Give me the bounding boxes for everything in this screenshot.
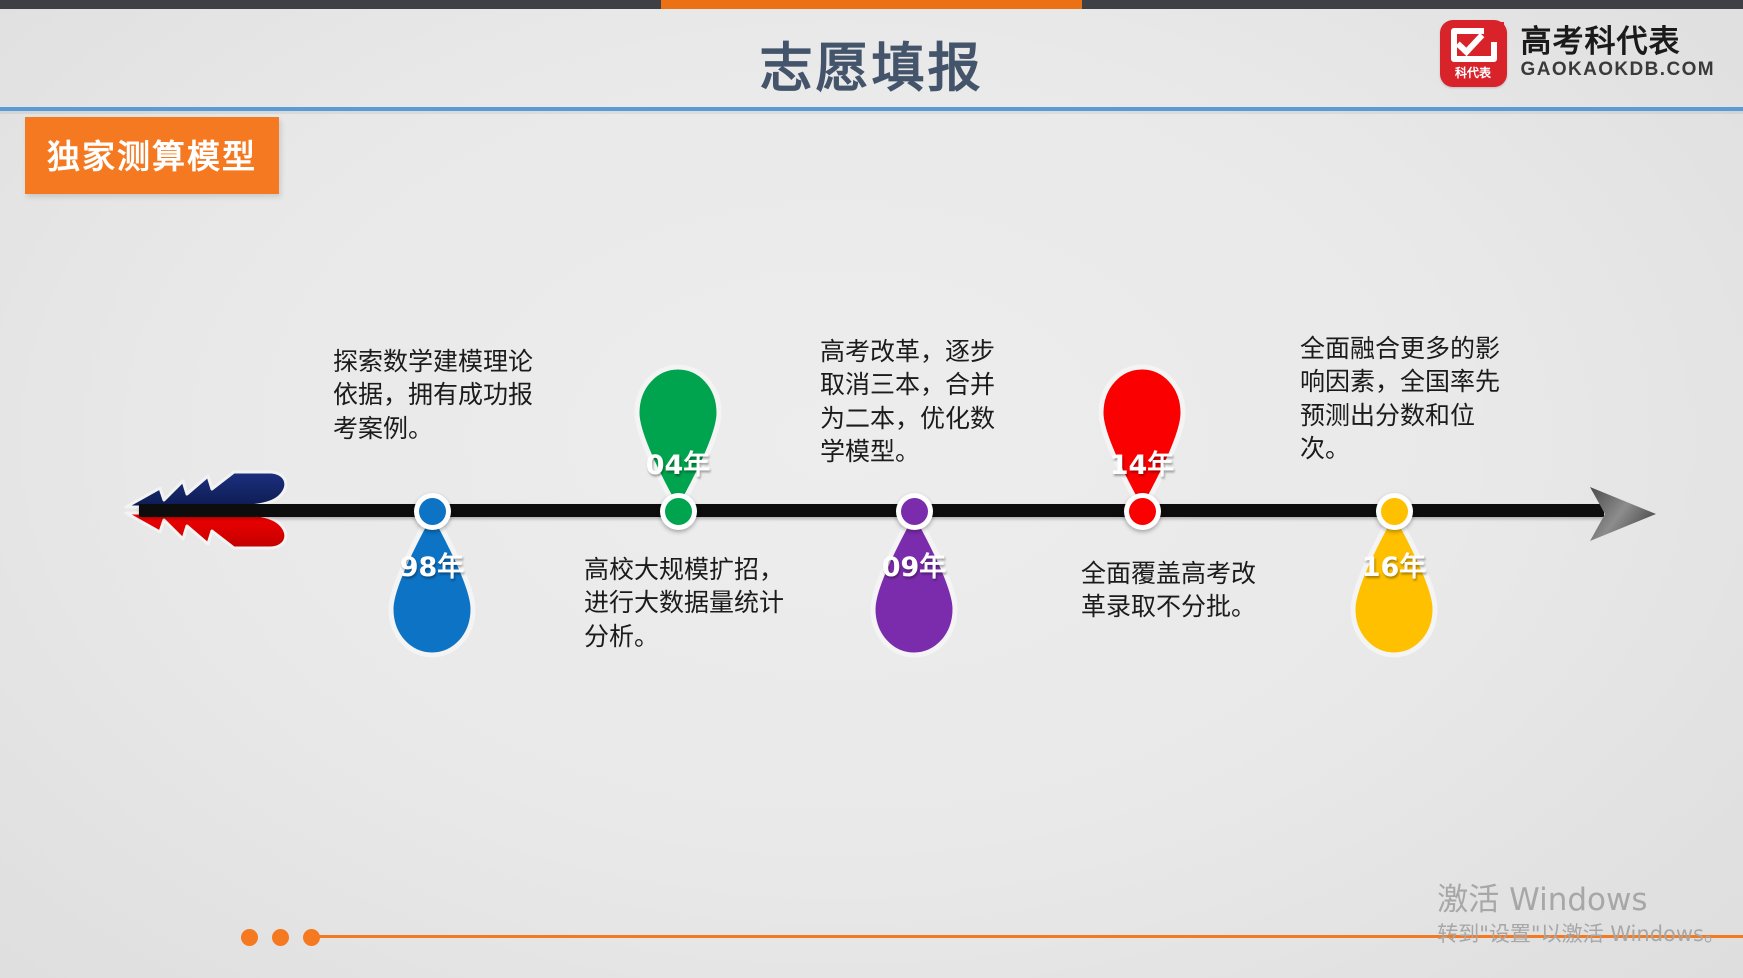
timeline-node-98年[interactable] <box>414 493 451 530</box>
header-top-accent-bar <box>661 0 1082 9</box>
timeline-node-04年[interactable] <box>660 493 697 530</box>
logo-mark-label: 科代表 <box>1440 64 1507 81</box>
section-badge: 独家测算模型 <box>25 117 279 194</box>
logo-mark-icon: 科代表 <box>1440 20 1507 87</box>
logo-text-block: 高考科代表 GAOKAOKDB.COM <box>1521 26 1715 82</box>
footer-dot-2 <box>272 929 289 946</box>
timeline-caption-98年: 探索数学建模理论依据，拥有成功报考案例。 <box>333 345 533 445</box>
node-dot-icon <box>1129 498 1156 525</box>
node-dot-icon <box>901 498 928 525</box>
logo-brand-en: GAOKAOKDB.COM <box>1521 59 1715 82</box>
logo-brand-cn: 高考科代表 <box>1521 26 1715 59</box>
timeline-node-14年[interactable] <box>1124 493 1161 530</box>
timeline-caption-04年: 高校大规模扩招，进行大数据量统计分析。 <box>584 553 789 653</box>
logo-notch-shape <box>1484 22 1504 42</box>
timeline-caption-14年: 全面覆盖高考改革录取不分批。 <box>1081 557 1261 624</box>
node-dot-icon <box>1381 498 1408 525</box>
timeline-node-16年[interactable] <box>1376 493 1413 530</box>
timeline-caption-09年: 高考改革，逐步取消三本，合并为二本，优化数学模型。 <box>820 335 1010 468</box>
footer-accent-line <box>307 935 1743 938</box>
timeline-caption-16年: 全面融合更多的影响因素，全国率先预测出分数和位次。 <box>1300 332 1500 465</box>
brand-logo: 科代表 高考科代表 GAOKAOKDB.COM <box>1440 20 1715 87</box>
windows-activation-watermark: 激活 Windows 转到"设置"以激活 Windows。 <box>1437 882 1725 948</box>
node-dot-icon <box>665 498 692 525</box>
node-dot-icon <box>419 498 446 525</box>
watermark-line-1: 激活 Windows <box>1437 882 1725 919</box>
timeline-node-09年[interactable] <box>896 493 933 530</box>
header-divider-shadow <box>0 111 1743 114</box>
footer-dot-1 <box>241 929 258 946</box>
slide-canvas: 志愿填报 科代表 高考科代表 GAOKAOKDB.COM 独家测算模型 <box>0 0 1743 978</box>
